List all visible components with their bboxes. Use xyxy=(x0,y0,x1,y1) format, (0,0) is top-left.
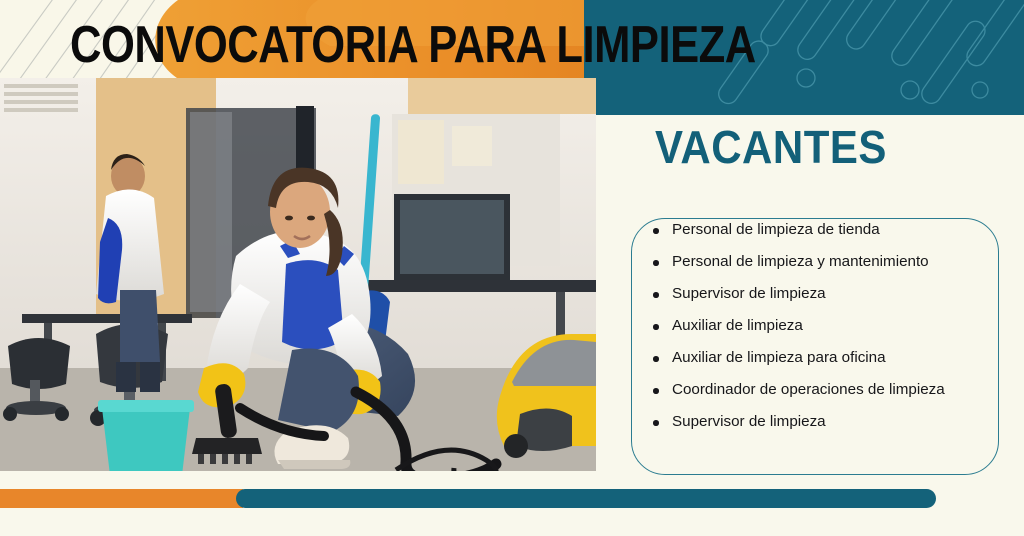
bullet-icon xyxy=(653,420,659,426)
list-item-label: Personal de limpieza de tienda xyxy=(672,221,880,238)
list-item: Auxiliar de limpieza xyxy=(645,310,1024,342)
bullet-icon xyxy=(653,356,659,362)
list-item: Personal de limpieza y mantenimiento xyxy=(645,246,1024,278)
list-item: Auxiliar de limpieza para oficina xyxy=(645,342,1024,374)
list-item: Supervisor de limpieza xyxy=(645,406,1024,438)
list-item-label: Coordinador de operaciones de limpieza xyxy=(672,381,945,398)
poster-canvas: CONVOCATORIA PARA LIMPIEZA xyxy=(0,0,1024,536)
bullet-icon xyxy=(653,292,659,298)
list-item-label: Personal de limpieza y mantenimiento xyxy=(672,253,929,270)
bottom-bar-teal xyxy=(236,489,936,508)
bullet-icon xyxy=(653,260,659,266)
hero-photo xyxy=(0,78,596,471)
page-title: CONVOCATORIA PARA LIMPIEZA xyxy=(70,16,756,75)
list-item: Coordinador de operaciones de limpieza xyxy=(645,374,972,406)
bullet-icon xyxy=(653,324,659,330)
list-item-label: Supervisor de limpieza xyxy=(672,285,826,302)
section-heading-vacantes: VACANTES xyxy=(655,121,887,174)
bottom-bar-orange xyxy=(0,489,243,508)
list-item-label: Auxiliar de limpieza para oficina xyxy=(672,349,886,366)
list-item-label: Supervisor de limpieza xyxy=(672,413,826,430)
vacancies-list: Personal de limpieza de tienda Personal … xyxy=(645,214,1024,438)
bullet-icon xyxy=(653,228,659,234)
list-item: Personal de limpieza de tienda xyxy=(645,214,1024,246)
bullet-icon xyxy=(653,388,659,394)
list-item: Supervisor de limpieza xyxy=(645,278,1024,310)
list-item-label: Auxiliar de limpieza xyxy=(672,317,803,334)
